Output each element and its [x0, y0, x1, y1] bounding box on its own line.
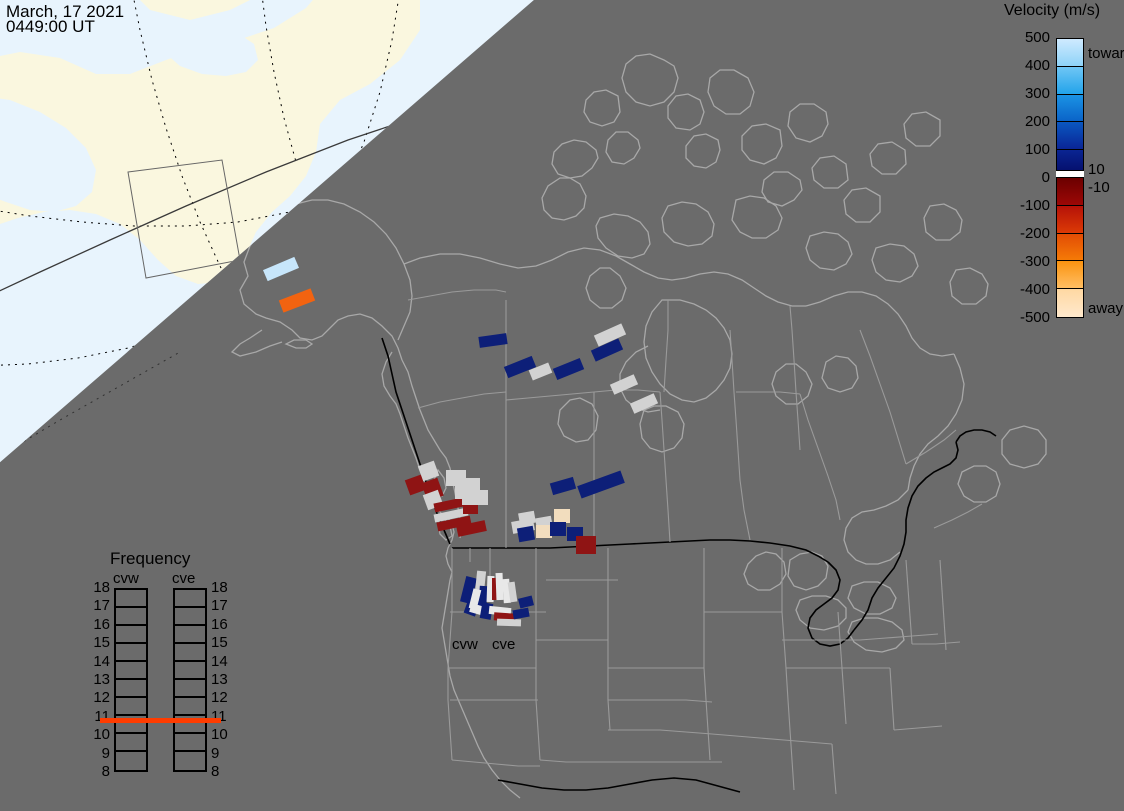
frequency-tick-label-right: 13	[211, 671, 229, 688]
colorbar-band	[1057, 122, 1083, 150]
frequency-scale-cve	[173, 588, 207, 772]
frequency-scale-row	[116, 734, 146, 752]
radar-velocity-cell	[455, 486, 471, 499]
frequency-tick-label-right: 14	[211, 653, 229, 670]
frequency-tick-label-left: 8	[92, 763, 110, 780]
frequency-scale-row	[175, 608, 205, 626]
colorbar-tick-label: -200	[1000, 225, 1050, 242]
time-label: 0449:00 UT	[6, 17, 95, 36]
frequency-tick-label-left: 17	[92, 597, 110, 614]
frequency-tick-label-left: 13	[92, 671, 110, 688]
frequency-scale-row	[175, 644, 205, 662]
frequency-tick-label-left: 18	[92, 579, 110, 596]
radar-velocity-cell	[517, 526, 535, 543]
frequency-tick-label-right: 17	[211, 597, 229, 614]
colorbar-toward-label: toward	[1088, 45, 1124, 62]
colorbar-tick-label: -400	[1000, 281, 1050, 298]
colorbar-positive-threshold-label: 10	[1088, 161, 1105, 178]
frequency-scale-row	[175, 734, 205, 752]
frequency-tick-label-left: 9	[92, 745, 110, 762]
frequency-tick-label-left: 14	[92, 653, 110, 670]
colorbar-tick-label: -500	[1000, 309, 1050, 326]
frequency-tick-label-left: 15	[92, 634, 110, 651]
colorbar-tick-label: 300	[1000, 85, 1050, 102]
colorbar-band	[1057, 95, 1083, 123]
radar-site-label-cve: cve	[492, 636, 515, 653]
colorbar-band	[1057, 39, 1083, 67]
frequency-tick-label-right: 8	[211, 763, 229, 780]
frequency-tick-label-right: 18	[211, 579, 229, 596]
frequency-scale-row	[116, 608, 146, 626]
frequency-tick-label-left: 10	[92, 726, 110, 743]
frequency-scale-row	[175, 752, 205, 770]
frequency-scale-cvw	[114, 588, 148, 772]
colorbar-tick-label: -100	[1000, 197, 1050, 214]
frequency-column-header-cvw: cvw	[113, 570, 139, 587]
colorbar-tick-label: 0	[1000, 169, 1050, 186]
frequency-tick-label-right: 15	[211, 634, 229, 651]
frequency-tick-label-right: 10	[211, 726, 229, 743]
frequency-scale-row	[175, 698, 205, 716]
radar-velocity-cell	[576, 536, 596, 554]
frequency-scale-row	[175, 626, 205, 644]
frequency-scale-row	[116, 752, 146, 770]
velocity-colorbar	[1056, 38, 1084, 318]
frequency-column-header-cve: cve	[172, 570, 195, 587]
frequency-scale-row	[175, 680, 205, 698]
colorbar-away-label: away	[1088, 300, 1123, 317]
colorbar-tick-label: 200	[1000, 113, 1050, 130]
colorbar-band	[1057, 206, 1083, 234]
radar-velocity-map: March, 17 2021 0449:00 UT cvwcve Velocit…	[0, 0, 1124, 811]
frequency-tick-label-right: 9	[211, 745, 229, 762]
frequency-tick-label-right: 12	[211, 689, 229, 706]
frequency-tick-label-right: 16	[211, 616, 229, 633]
frequency-scale-row	[116, 698, 146, 716]
radar-site-label-cvw: cvw	[452, 636, 478, 653]
colorbar-band	[1057, 289, 1083, 317]
colorbar-band	[1057, 178, 1083, 206]
frequency-scale-row	[175, 662, 205, 680]
frequency-tick-label-left: 12	[92, 689, 110, 706]
frequency-legend-title: Frequency	[110, 549, 190, 569]
colorbar-tick-label: 400	[1000, 57, 1050, 74]
frequency-scale-row	[116, 680, 146, 698]
radar-velocity-cell	[497, 619, 521, 627]
colorbar-title: Velocity (m/s)	[1004, 2, 1100, 20]
frequency-marker-cve	[159, 718, 221, 723]
frequency-scale-row	[175, 590, 205, 608]
frequency-marker-cvw	[100, 718, 162, 723]
colorbar-negative-threshold-label: -10	[1088, 179, 1110, 196]
colorbar-band	[1057, 234, 1083, 262]
frequency-scale-row	[116, 626, 146, 644]
radar-velocity-cell	[554, 509, 570, 523]
frequency-scale-row	[116, 644, 146, 662]
frequency-scale-row	[116, 662, 146, 680]
radar-velocity-cell	[550, 522, 566, 536]
frequency-scale-row	[116, 590, 146, 608]
colorbar-tick-label: -300	[1000, 253, 1050, 270]
colorbar-neutral-band	[1056, 170, 1084, 178]
colorbar-band	[1057, 67, 1083, 95]
colorbar-band	[1057, 261, 1083, 289]
frequency-tick-label-left: 16	[92, 616, 110, 633]
colorbar-tick-label: 100	[1000, 141, 1050, 158]
colorbar-tick-label: 500	[1000, 29, 1050, 46]
